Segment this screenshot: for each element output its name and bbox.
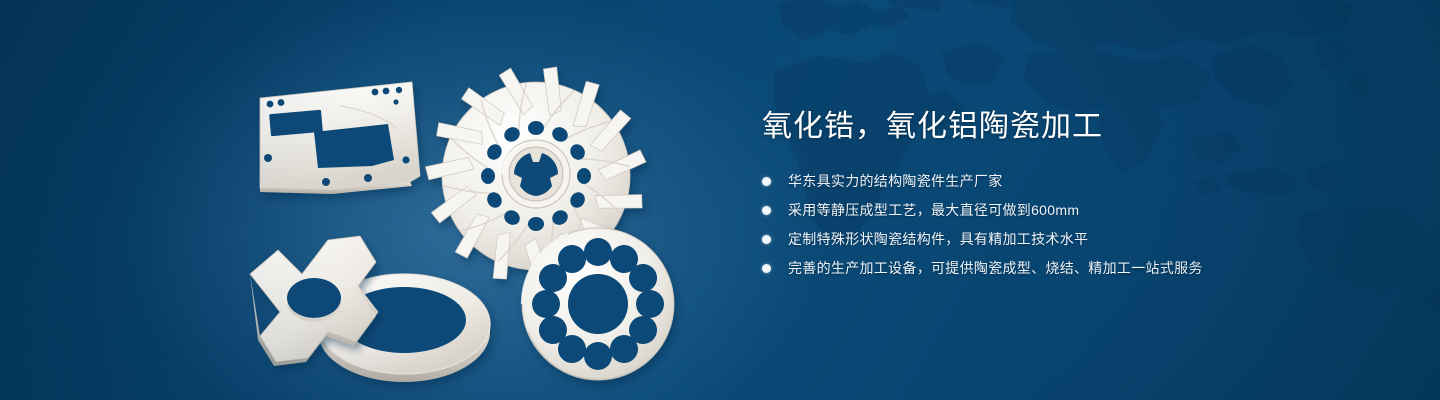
list-item: 定制特殊形状陶瓷结构件，具有精加工技术水平 <box>762 228 1382 250</box>
ceramic-plate-part <box>260 82 420 194</box>
bullet-dot-icon <box>762 206 771 215</box>
page-title: 氧化锆，氧化铝陶瓷加工 <box>762 108 1382 146</box>
banner-copy: 氧化锆，氧化铝陶瓷加工 华东具实力的结构陶瓷件生产厂家 采用等静压成型工艺，最大… <box>762 108 1382 286</box>
bullet-dot-icon <box>762 235 771 244</box>
list-item-label: 定制特殊形状陶瓷结构件，具有精加工技术水平 <box>788 231 1088 247</box>
list-item: 完善的生产加工设备，可提供陶瓷成型、烧结、精加工一站式服务 <box>762 257 1382 279</box>
list-item-label: 华东具实力的结构陶瓷件生产厂家 <box>788 173 1003 189</box>
feature-list: 华东具实力的结构陶瓷件生产厂家 采用等静压成型工艺，最大直径可做到600mm 定… <box>762 170 1382 279</box>
ceramic-parts-image <box>236 36 706 386</box>
ceramic-perforated-disc-part <box>522 228 674 380</box>
hero-banner: 氧化锆，氧化铝陶瓷加工 华东具实力的结构陶瓷件生产厂家 采用等静压成型工艺，最大… <box>0 0 1440 400</box>
bullet-dot-icon <box>762 264 771 273</box>
bullet-dot-icon <box>762 177 771 186</box>
list-item: 采用等静压成型工艺，最大直径可做到600mm <box>762 199 1382 221</box>
list-item-label: 完善的生产加工设备，可提供陶瓷成型、烧结、精加工一站式服务 <box>788 260 1203 276</box>
list-item-label: 采用等静压成型工艺，最大直径可做到600mm <box>788 202 1079 218</box>
list-item: 华东具实力的结构陶瓷件生产厂家 <box>762 170 1382 192</box>
